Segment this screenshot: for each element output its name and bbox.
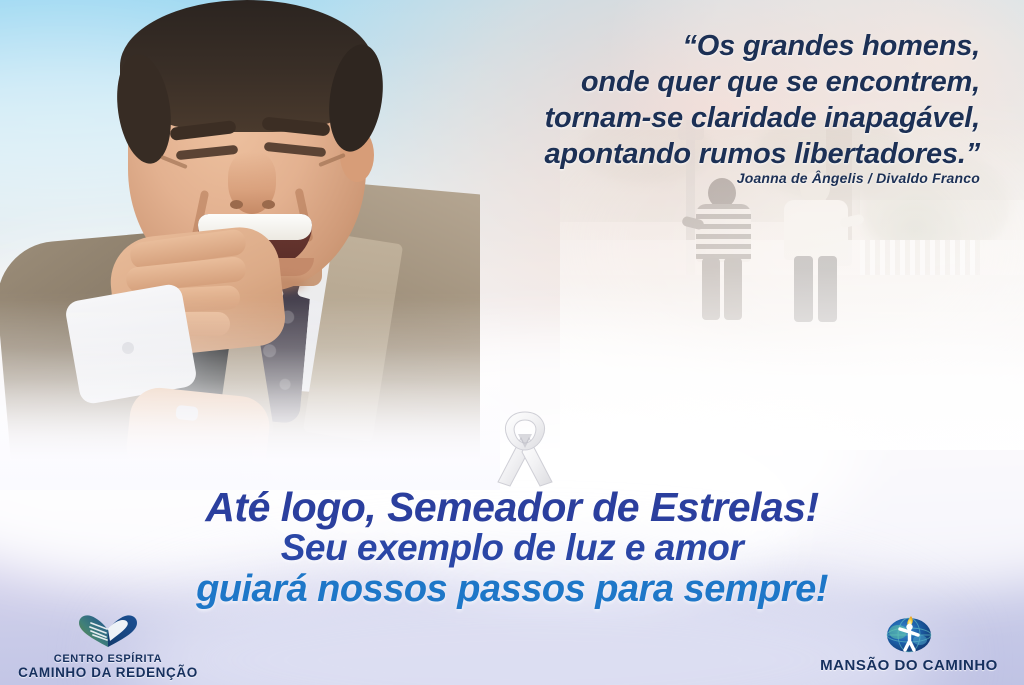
logo-left-line-2: CAMINHO DA REDENÇÃO <box>8 666 208 679</box>
hands-heart-icon <box>8 614 208 653</box>
logo-mansao-do-caminho[interactable]: MANSÃO DO CAMINHO <box>804 610 1014 672</box>
headline-line-2: Seu exemplo de luz e amor <box>0 528 1024 568</box>
headline-text: Até logo, Semeador de Estrelas! Seu exem… <box>0 486 1024 610</box>
headline-line-3: guiará nossos passos para sempre! <box>0 568 1024 610</box>
headline-line-1: Até logo, Semeador de Estrelas! <box>0 486 1024 528</box>
quote-line-4: apontando rumos libertadores.” <box>360 136 980 172</box>
logo-right-line-1: MANSÃO DO CAMINHO <box>804 659 1014 672</box>
quote-line-1: “Os grandes homens, <box>360 28 980 64</box>
globe-figure-flame-icon <box>804 610 1014 659</box>
quote-author: Joanna de Ângelis / Divaldo Franco <box>360 170 980 186</box>
white-ribbon-icon <box>488 408 562 490</box>
quote-text: “Os grandes homens, onde quer que se enc… <box>360 28 980 172</box>
quote-line-3: tornam-se claridade inapagável, <box>360 100 980 136</box>
memorial-poster: “Os grandes homens, onde quer que se enc… <box>0 0 1024 685</box>
logo-centro-espirita[interactable]: CENTRO ESPÍRITA CAMINHO DA REDENÇÃO <box>8 614 208 679</box>
quote-line-2: onde quer que se encontrem, <box>360 64 980 100</box>
portrait-fade-overlay <box>0 300 500 490</box>
